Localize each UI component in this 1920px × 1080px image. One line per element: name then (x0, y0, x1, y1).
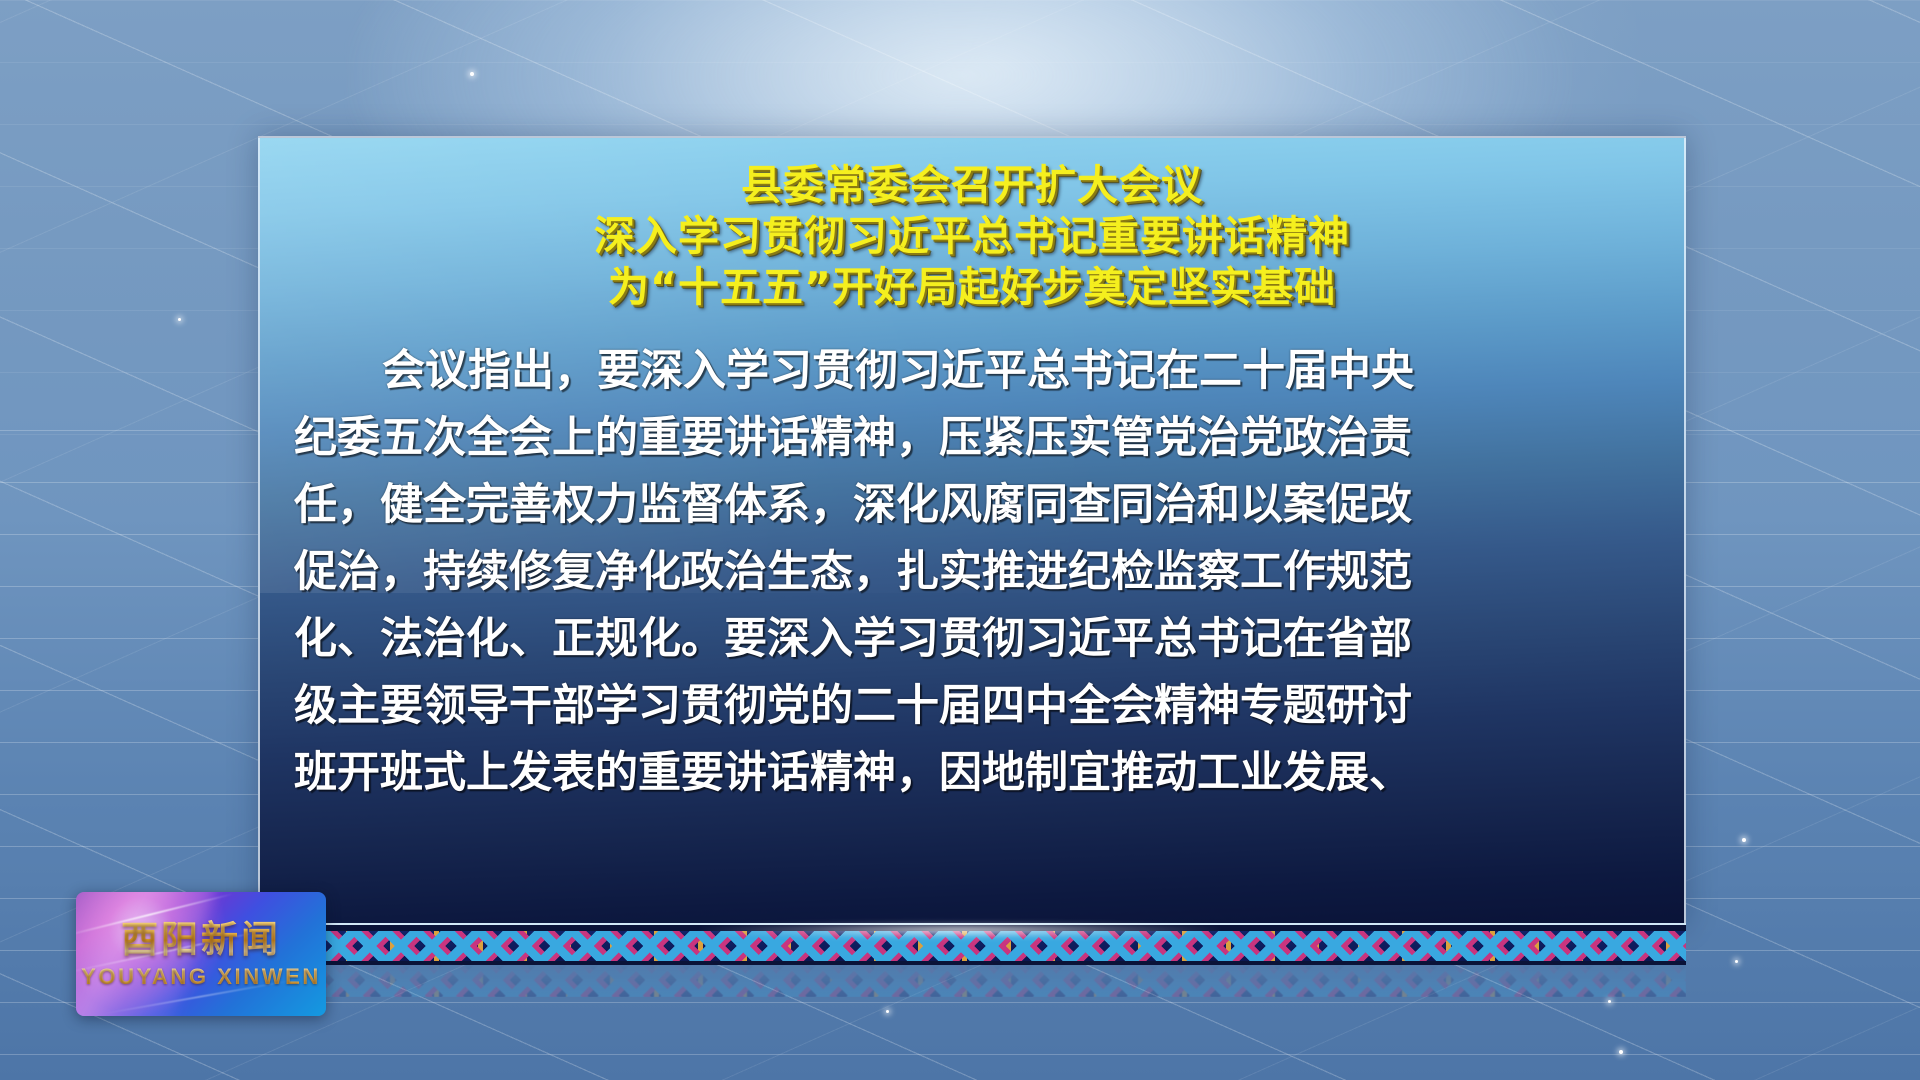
channel-logo-badge: 酉阳新闻 YOUYANG XINWEN (76, 892, 326, 1016)
body-line-6: 级主要领导干部学习贯彻党的二十届四中全会精神专题研讨 (294, 673, 1650, 740)
sparkle-dot (1742, 838, 1746, 842)
headline-block: 县委常委会召开扩大会议 深入学习贯彻习近平总书记重要讲话精神 为“十五五”开好局… (260, 160, 1684, 313)
sparkle-dot (1735, 960, 1738, 963)
ethnic-border-reflection (258, 963, 1686, 997)
sparkle-dot (470, 72, 474, 76)
broadcast-screen: 县委常委会召开扩大会议 深入学习贯彻习近平总书记重要讲话精神 为“十五五”开好局… (0, 0, 1920, 1080)
logo-title-en: YOUYANG XINWEN (76, 964, 326, 990)
body-line-4: 促治，持续修复净化政治生态，扎实推进纪检监察工作规范 (294, 539, 1650, 606)
headline-line-3: 为“十五五”开好局起好步奠定坚实基础 (260, 262, 1684, 313)
headline-line-2: 深入学习贯彻习近平总书记重要讲话精神 (260, 211, 1684, 262)
logo-title-cn: 酉阳新闻 (76, 909, 326, 963)
body-line-1: 会议指出，要深入学习贯彻习近平总书记在二十届中央 (294, 338, 1650, 405)
sparkle-dot (1608, 1000, 1611, 1003)
sparkle-dot (178, 318, 181, 321)
body-line-5: 化、法治化、正规化。要深入学习贯彻习近平总书记在省部 (294, 606, 1650, 673)
body-line-7: 班开班式上发表的重要讲话精神，因地制宜推动工业发展、 (294, 740, 1650, 807)
news-text-panel: 县委常委会召开扩大会议 深入学习贯彻习近平总书记重要讲话精神 为“十五五”开好局… (258, 136, 1686, 925)
sparkle-dot (886, 1010, 889, 1013)
body-line-2: 纪委五次全会上的重要讲话精神，压紧压实管党治党政治责 (294, 405, 1650, 472)
body-line-3: 任，健全完善权力监督体系，深化风腐同查同治和以案促改 (294, 472, 1650, 539)
article-body: 会议指出，要深入学习贯彻习近平总书记在二十届中央 纪委五次全会上的重要讲话精神，… (294, 338, 1650, 807)
sparkle-dot (1619, 1050, 1623, 1054)
panel-base-glow (700, 922, 1220, 938)
headline-line-1: 县委常委会召开扩大会议 (260, 160, 1684, 211)
ethnic-pattern-reflected (258, 963, 1686, 997)
